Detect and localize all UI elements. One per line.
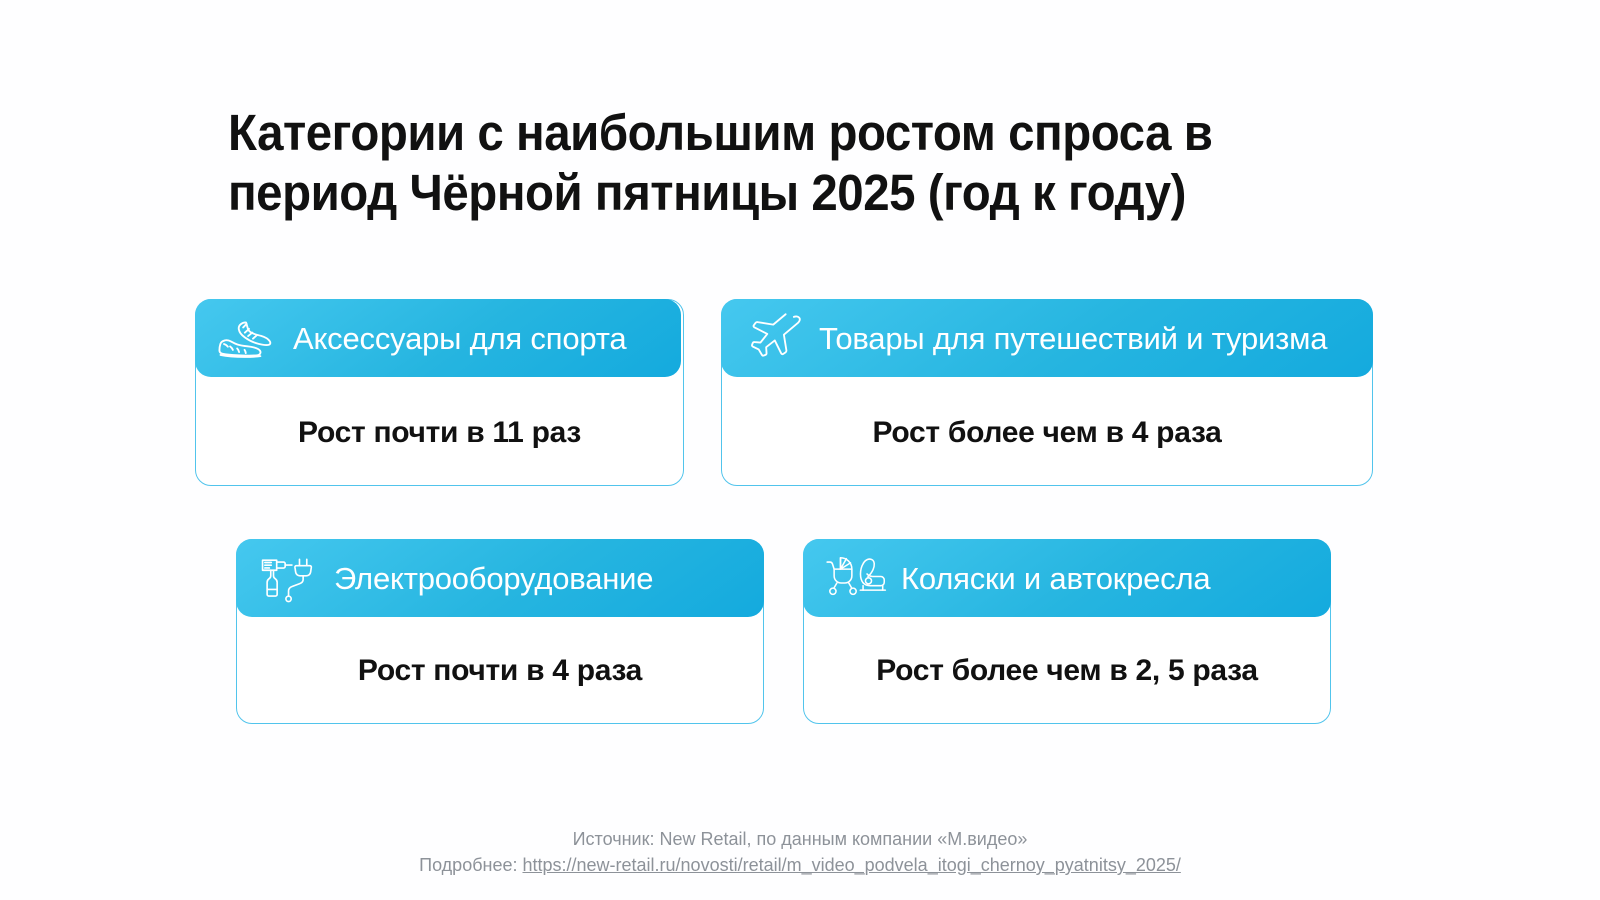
card-header: Электрооборудование [236,539,764,617]
card-growth-value: Рост более чем в 4 раза [721,416,1373,450]
sneakers-icon [217,312,279,364]
card-growth-value: Рост более чем в 2, 5 раза [803,654,1331,688]
card-category-label: Электрооборудование [334,563,653,594]
category-card: Рост почти в 4 раза [236,539,764,724]
card-header: Аксессуары для спорта [195,299,681,377]
card-header: Коляски и автокресла [803,539,1331,617]
card-category-label: Товары для путешествий и туризма [819,323,1327,354]
drill-plug-icon [258,552,320,604]
category-card: Рост почти в 11 раз Аксессуары для спорт… [195,299,684,486]
card-growth-value: Рост почти в 4 раза [236,654,764,688]
infographic-slide: Категории с наибольшим ростом спроса в п… [0,0,1600,900]
footer-more-line: Подробнее: https://new-retail.ru/novosti… [0,852,1600,878]
card-growth-value: Рост почти в 11 раз [195,416,684,450]
stroller-carseat-icon [825,552,887,604]
category-card: Рост более чем в 4 раза Товары для путеш… [721,299,1373,486]
footer-source-line: Источник: New Retail, по данным компании… [0,826,1600,852]
category-card: Рост более чем в 2, 5 раза [803,539,1331,724]
card-header: Товары для путешествий и туризма [721,299,1373,377]
source-url-link[interactable]: https://new-retail.ru/novosti/retail/m_v… [522,855,1180,875]
footer-more-prefix: Подробнее: [419,855,522,875]
airplane-icon [743,312,805,364]
card-category-label: Коляски и автокресла [901,563,1210,594]
card-category-label: Аксессуары для спорта [293,323,626,354]
footer: Источник: New Retail, по данным компании… [0,826,1600,878]
page-title: Категории с наибольшим ростом спроса в п… [228,103,1279,222]
